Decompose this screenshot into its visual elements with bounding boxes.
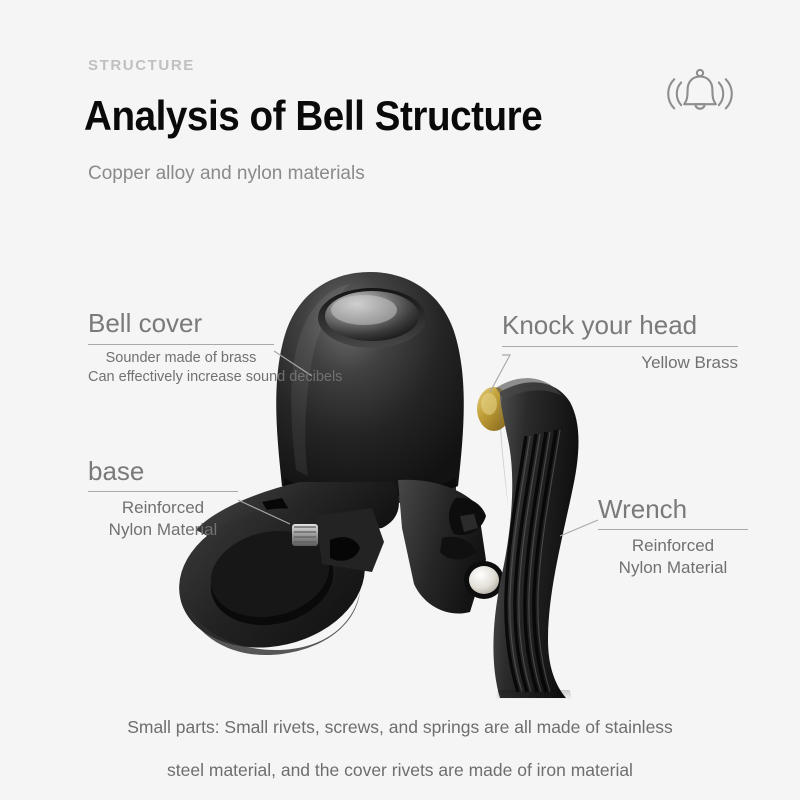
wrench-lever [493, 378, 578, 700]
callout-subline-2: Nylon Material [88, 519, 238, 541]
callout-heading: Knock your head [502, 312, 738, 338]
clamp-screw [292, 524, 318, 546]
callout-rule [88, 491, 238, 492]
callout-rule [502, 346, 738, 347]
callout-base: base Reinforced Nylon Material [88, 458, 238, 541]
product-photo-bicycle-bell [0, 0, 800, 800]
bell-dome-cover [276, 272, 464, 504]
callout-subline-2: Nylon Material [598, 557, 748, 579]
callout-bell-cover: Bell cover Sounder made of brass Can eff… [88, 310, 274, 386]
callout-wrench: Wrench Reinforced Nylon Material [598, 496, 748, 579]
callout-heading: base [88, 458, 238, 484]
footer-line-2: steel material, and the cover rivets are… [0, 749, 800, 792]
callout-rule [598, 529, 748, 530]
callout-rule [88, 344, 274, 345]
callout-subline-1: Reinforced [598, 535, 748, 557]
infographic-canvas: STRUCTURE Analysis of Bell Structure Cop… [0, 0, 800, 800]
callout-subline-1: Yellow Brass [502, 352, 738, 374]
footer-note: Small parts: Small rivets, screws, and s… [0, 706, 800, 792]
callout-heading: Wrench [598, 496, 748, 522]
callout-heading: Bell cover [88, 310, 274, 336]
callout-knock-your-head: Knock your head Yellow Brass [502, 312, 738, 374]
footer-line-1: Small parts: Small rivets, screws, and s… [0, 706, 800, 749]
lever-rivet [469, 566, 499, 594]
callout-subline-1: Reinforced [88, 497, 238, 519]
lever-bracket [398, 480, 504, 614]
callout-subline-1: Sounder made of brass [88, 349, 274, 368]
callout-subline-2: Can effectively increase sound decibels [88, 368, 274, 387]
